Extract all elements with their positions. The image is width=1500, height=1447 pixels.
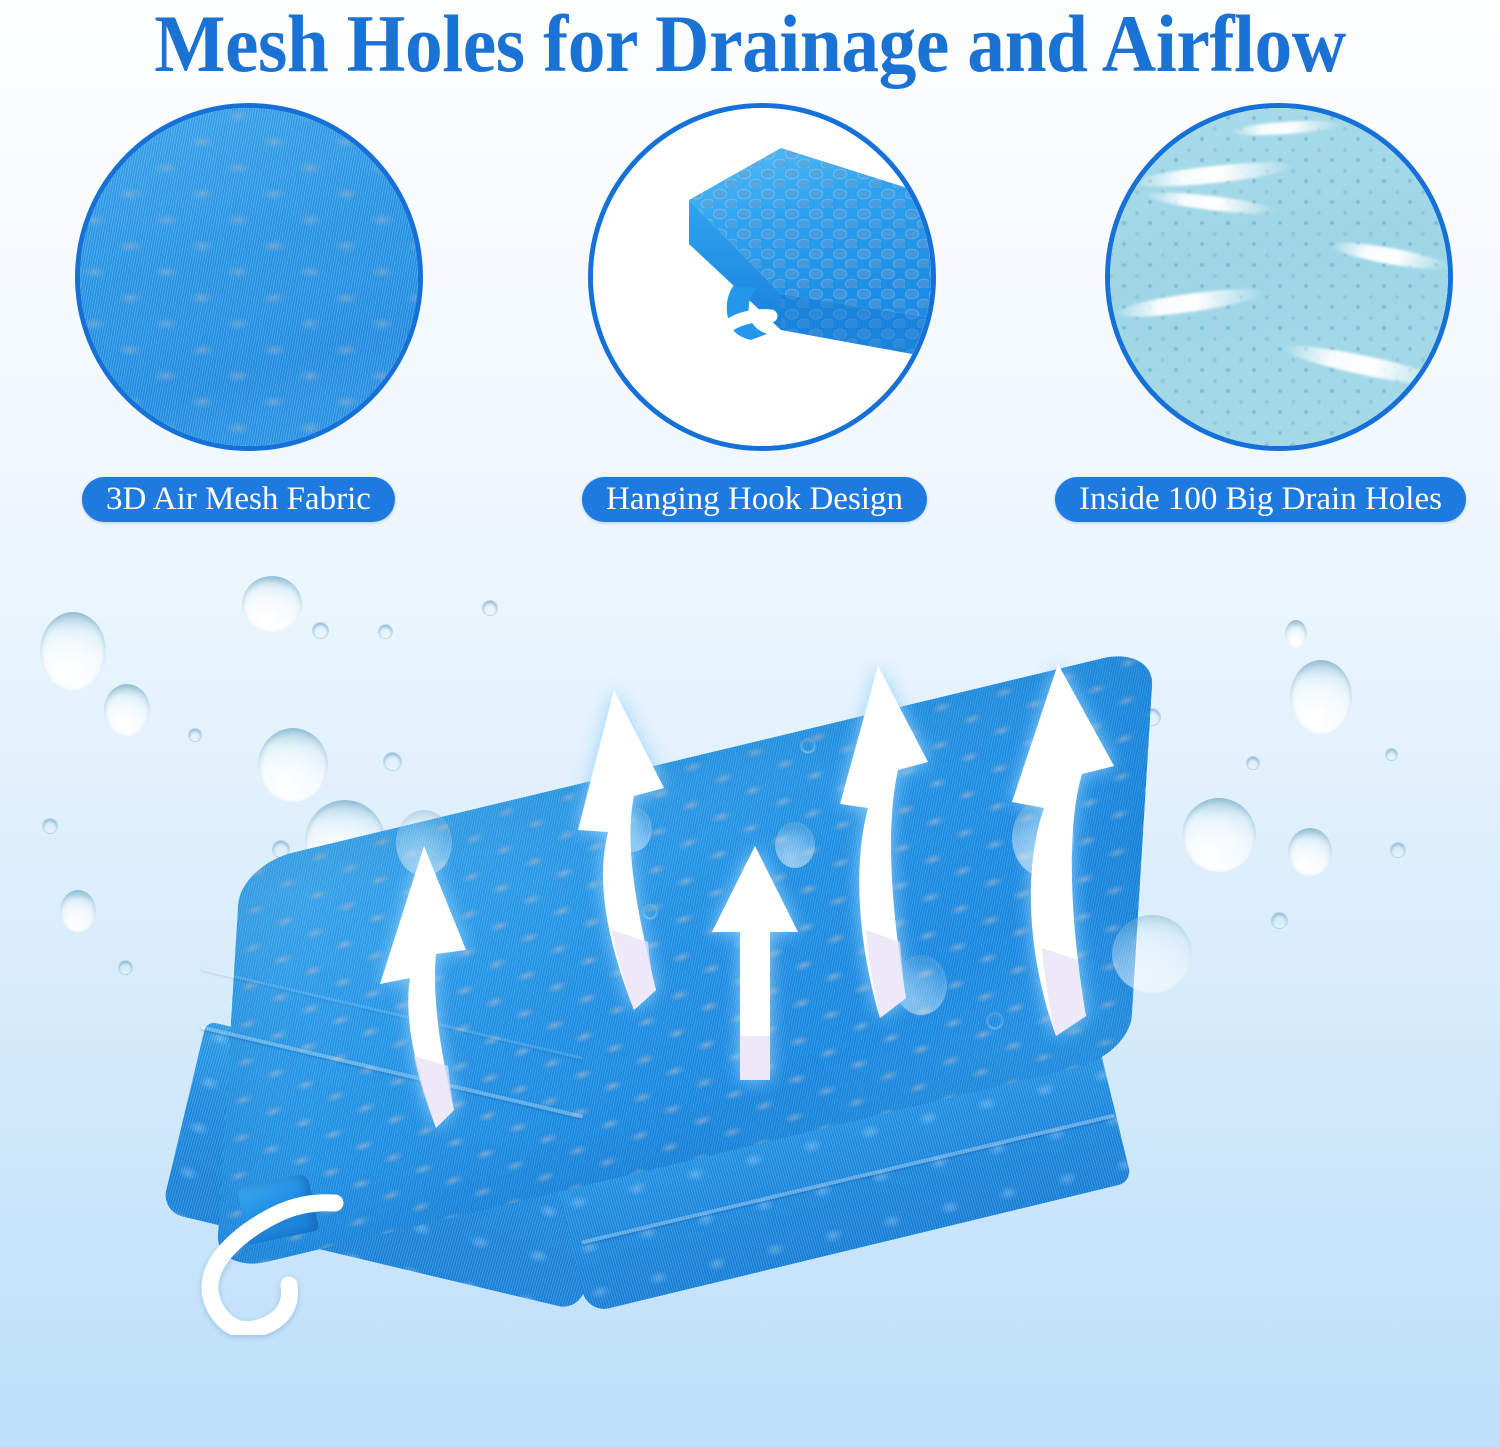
water-droplet (242, 576, 302, 632)
infographic-canvas: Mesh Holes for Drainage and Airflow (0, 0, 1500, 1447)
water-droplet-small (383, 752, 402, 771)
water-droplet-small (1385, 748, 1398, 761)
feature-label-drain-holes[interactable]: Inside 100 Big Drain Holes (1055, 477, 1466, 522)
water-droplet (1182, 798, 1256, 872)
water-droplet (104, 684, 150, 736)
feature-image-hanging-hook (588, 103, 936, 451)
page-title: Mesh Holes for Drainage and Airflow (60, 0, 1440, 90)
airflow-arrow-4 (820, 658, 950, 1018)
water-droplet-small (118, 960, 133, 975)
hero-product-scene (0, 560, 1500, 1440)
water-droplet-small (42, 818, 58, 834)
water-droplet (1290, 660, 1352, 734)
water-droplet-small (1271, 912, 1288, 929)
water-droplet (40, 612, 106, 690)
airflow-arrow-5 (990, 656, 1140, 1036)
water-droplet-small (378, 624, 393, 639)
feature-label-hanging-hook[interactable]: Hanging Hook Design (582, 477, 927, 522)
feature-image-air-mesh (75, 103, 423, 451)
water-droplet (1285, 620, 1307, 648)
water-droplet-small (482, 600, 498, 616)
water-droplet (60, 890, 96, 932)
water-droplet-small (188, 728, 202, 742)
airflow-arrow-3 (700, 840, 810, 1080)
drain-mesh-texture (1105, 103, 1453, 451)
water-droplet-small (312, 622, 329, 639)
air-mesh-texture (75, 103, 423, 451)
water-droplet-small (1390, 842, 1406, 858)
water-droplet (1288, 828, 1332, 876)
water-droplet-small (1246, 756, 1260, 770)
hanging-hook-icon (185, 1185, 355, 1335)
water-droplet (258, 728, 328, 802)
hook-photo-illustration (593, 108, 933, 448)
airflow-arrow-2 (560, 680, 700, 1010)
water-droplet-small (800, 738, 816, 754)
feature-label-air-mesh[interactable]: 3D Air Mesh Fabric (82, 477, 395, 522)
feature-image-drain-holes (1105, 103, 1453, 451)
airflow-arrow-1 (362, 828, 492, 1128)
